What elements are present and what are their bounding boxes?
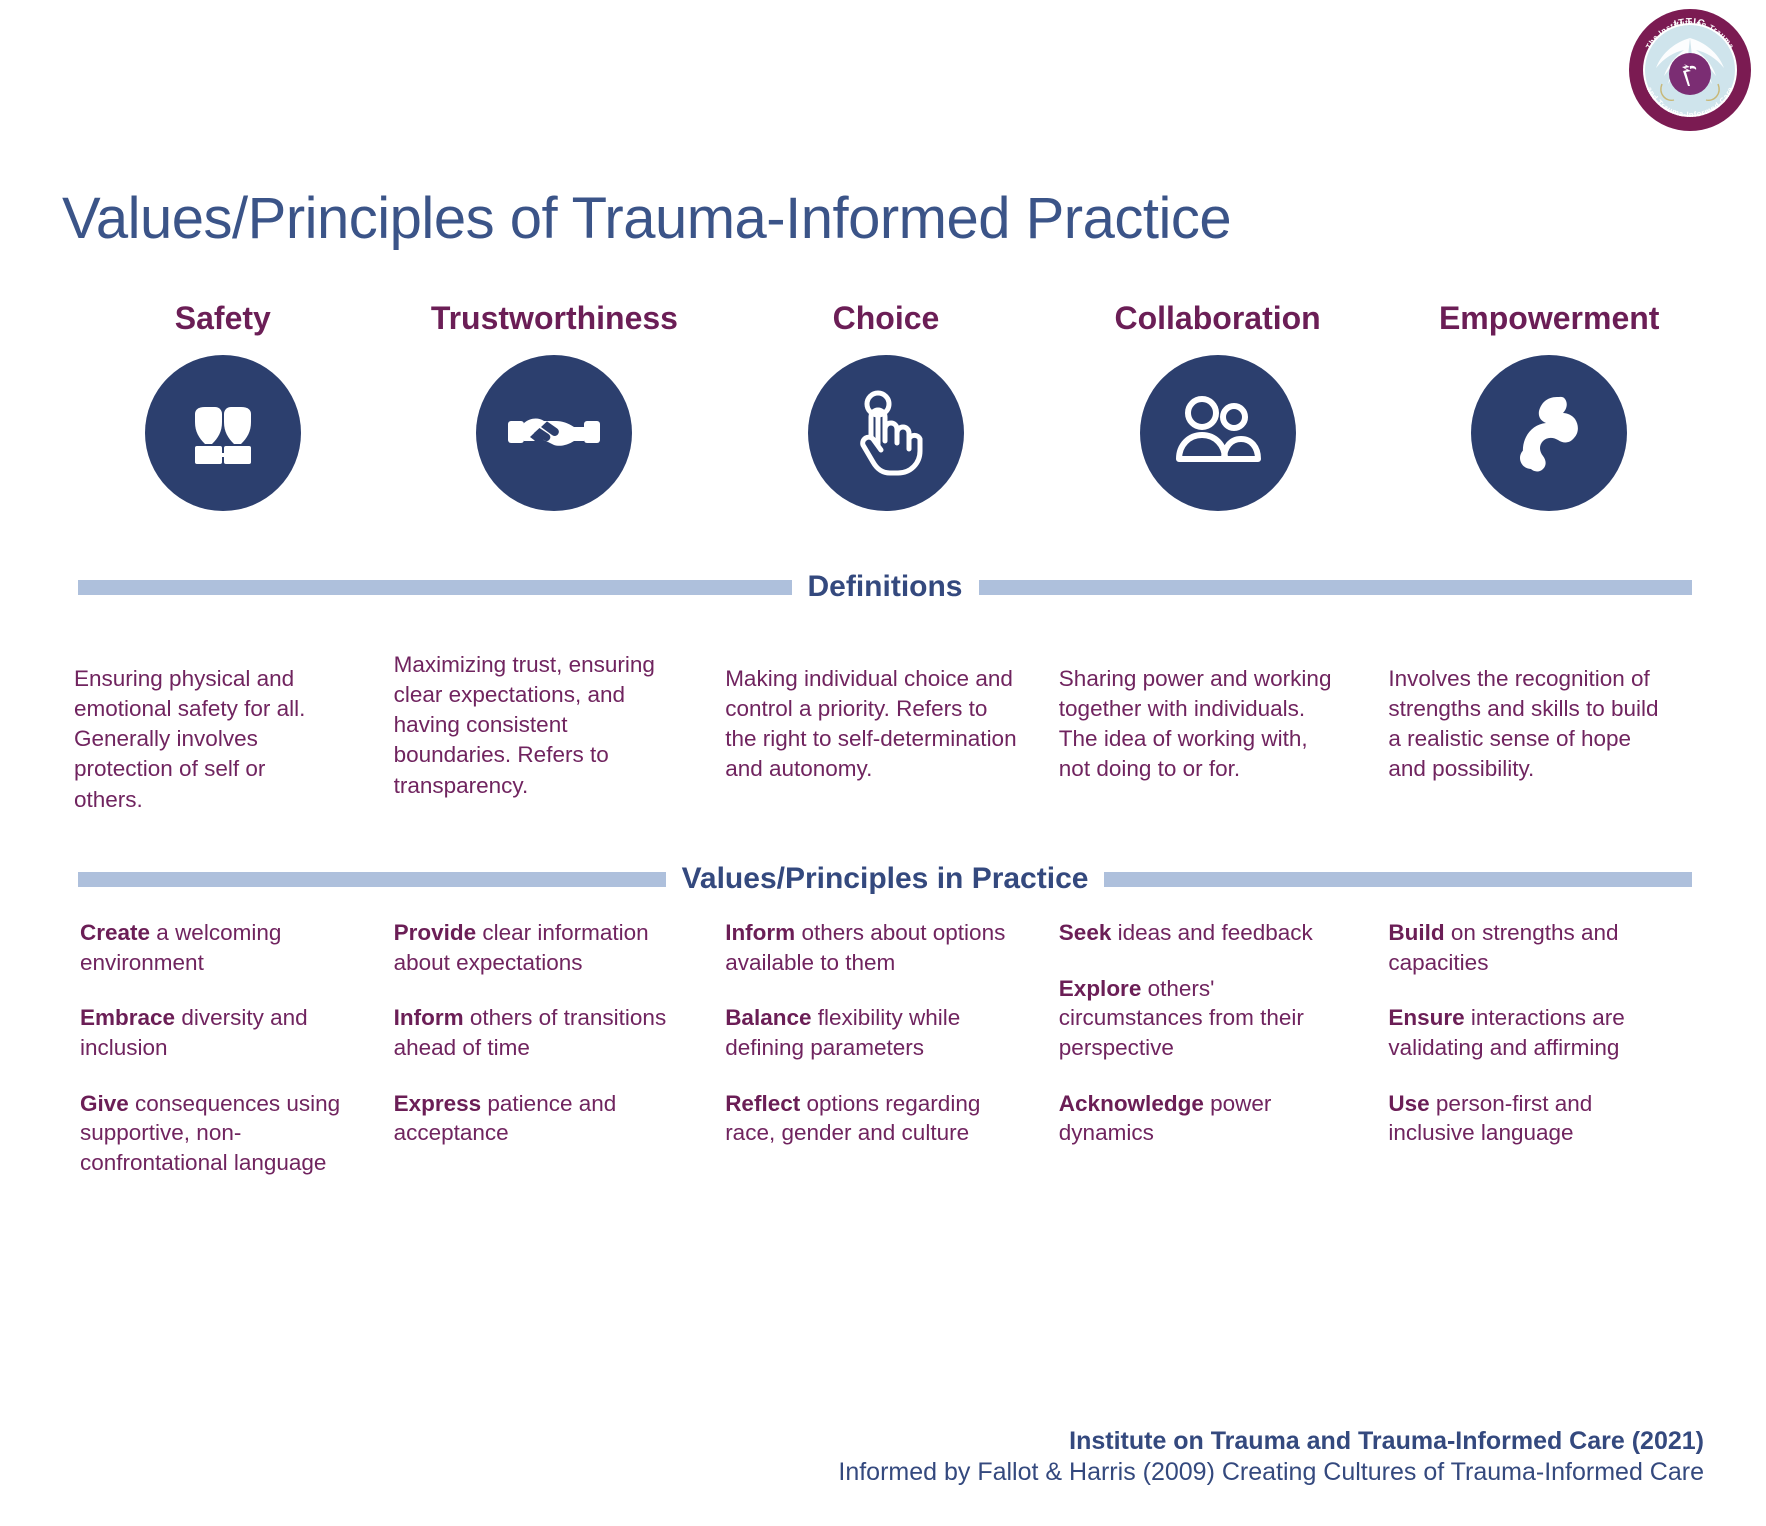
principle-column-empowerment: Empowerment bbox=[1388, 300, 1710, 511]
principle-column-choice: Choice bbox=[725, 300, 1047, 511]
practice-item: Explore others' circumstances from their… bbox=[1059, 974, 1353, 1063]
practice-item-action: Embrace bbox=[80, 1005, 175, 1030]
icon-circle-choice bbox=[808, 355, 964, 511]
practice-item-action: Reflect bbox=[725, 1091, 800, 1116]
practice-item: Seek ideas and feedback bbox=[1059, 918, 1353, 948]
attribution-footer: Institute on Trauma and Trauma-Informed … bbox=[838, 1426, 1704, 1489]
principle-column-trustworthiness: Trustworthiness bbox=[394, 300, 716, 511]
handshake-icon bbox=[504, 383, 604, 483]
practice-item-action: Acknowledge bbox=[1059, 1091, 1204, 1116]
practice-column-collaboration: Seek ideas and feedbackExplore others' c… bbox=[1057, 918, 1379, 1178]
practice-column-safety: Create a welcoming environmentEmbrace di… bbox=[62, 918, 384, 1178]
definition-empowerment: Involves the recognition of strengths an… bbox=[1388, 650, 1710, 815]
divider-bar-right bbox=[1104, 872, 1692, 887]
practice-label: Values/Principles in Practice bbox=[682, 862, 1089, 896]
definitions-label: Definitions bbox=[808, 570, 963, 604]
definition-choice: Making individual choice and control a p… bbox=[725, 650, 1047, 815]
principle-column-collaboration: Collaboration bbox=[1057, 300, 1379, 511]
icon-circle-empowerment bbox=[1471, 355, 1627, 511]
icon-circle-safety bbox=[145, 355, 301, 511]
practice-item: Inform others about options available to… bbox=[725, 918, 1021, 977]
principle-title-trustworthiness: Trustworthiness bbox=[431, 300, 678, 337]
practice-item: Acknowledge power dynamics bbox=[1059, 1089, 1353, 1148]
definition-safety: Ensuring physical and emotional safety f… bbox=[62, 650, 384, 815]
practice-item-action: Give bbox=[80, 1091, 129, 1116]
divider-bar-right bbox=[979, 580, 1693, 595]
principle-title-empowerment: Empowerment bbox=[1439, 300, 1659, 337]
definitions-grid: Ensuring physical and emotional safety f… bbox=[62, 650, 1710, 815]
practice-column-trustworthiness: Provide clear information about expectat… bbox=[394, 918, 716, 1178]
practice-item: Give consequences using supportive, non-… bbox=[80, 1089, 358, 1178]
definition-collaboration: Sharing power and working together with … bbox=[1057, 650, 1379, 815]
definitions-section-divider: Definitions bbox=[78, 570, 1692, 604]
practice-section-divider: Values/Principles in Practice bbox=[78, 862, 1692, 896]
practice-item-action: Provide bbox=[394, 920, 477, 945]
practice-item: Balance flexibility while defining param… bbox=[725, 1003, 1021, 1062]
practice-column-choice: Inform others about options available to… bbox=[725, 918, 1047, 1178]
practice-item: Build on strengths and capacities bbox=[1388, 918, 1684, 977]
practice-item: Use person-first and inclusive language bbox=[1388, 1089, 1684, 1148]
page-title: Values/Principles of Trauma-Informed Pra… bbox=[62, 187, 1722, 251]
practice-item: Inform others of transitions ahead of ti… bbox=[394, 1003, 690, 1062]
practice-item: Reflect options regarding race, gender a… bbox=[725, 1089, 1021, 1148]
practice-item-action: Inform bbox=[394, 1005, 464, 1030]
attribution-primary: Institute on Trauma and Trauma-Informed … bbox=[838, 1426, 1704, 1457]
practice-item-detail: ideas and feedback bbox=[1111, 920, 1312, 945]
icon-circle-trustworthiness bbox=[476, 355, 632, 511]
practice-item-action: Create bbox=[80, 920, 150, 945]
practice-item-action: Explore bbox=[1059, 976, 1142, 1001]
definition-trustworthiness: Maximizing trust, ensuring clear expecta… bbox=[394, 650, 716, 815]
principle-column-safety: Safety bbox=[62, 300, 384, 511]
principle-title-collaboration: Collaboration bbox=[1114, 300, 1320, 337]
practice-grid: Create a welcoming environmentEmbrace di… bbox=[62, 918, 1710, 1178]
practice-item: Embrace diversity and inclusion bbox=[80, 1003, 358, 1062]
practice-item-action: Build bbox=[1388, 920, 1444, 945]
principle-title-safety: Safety bbox=[175, 300, 271, 337]
practice-item: Ensure interactions are validating and a… bbox=[1388, 1003, 1684, 1062]
practice-item: Create a welcoming environment bbox=[80, 918, 358, 977]
flexed-arm-icon bbox=[1501, 385, 1597, 481]
practice-item-action: Inform bbox=[725, 920, 795, 945]
pointing-hand-icon bbox=[840, 387, 932, 479]
practice-item-action: Express bbox=[394, 1091, 482, 1116]
attribution-secondary: Informed by Fallot & Harris (2009) Creat… bbox=[838, 1457, 1704, 1488]
group-people-icon bbox=[1168, 383, 1268, 483]
practice-item-action: Balance bbox=[725, 1005, 811, 1030]
divider-bar-left bbox=[78, 872, 666, 887]
practice-item-action: Ensure bbox=[1388, 1005, 1464, 1030]
principle-columns: Safety Trustworthiness bbox=[62, 300, 1710, 511]
principle-title-choice: Choice bbox=[833, 300, 940, 337]
practice-item: Express patience and acceptance bbox=[394, 1089, 690, 1148]
practice-item-action: Seek bbox=[1059, 920, 1112, 945]
divider-bar-left bbox=[78, 580, 792, 595]
practice-column-empowerment: Build on strengths and capacitiesEnsure … bbox=[1388, 918, 1710, 1178]
icon-circle-collaboration bbox=[1140, 355, 1296, 511]
ittic-seal-logo: ITTIC The Institute on Trauma and Trauma… bbox=[1628, 8, 1752, 132]
practice-item: Provide clear information about expectat… bbox=[394, 918, 690, 977]
life-vest-icon bbox=[175, 385, 271, 481]
practice-item-action: Use bbox=[1388, 1091, 1429, 1116]
